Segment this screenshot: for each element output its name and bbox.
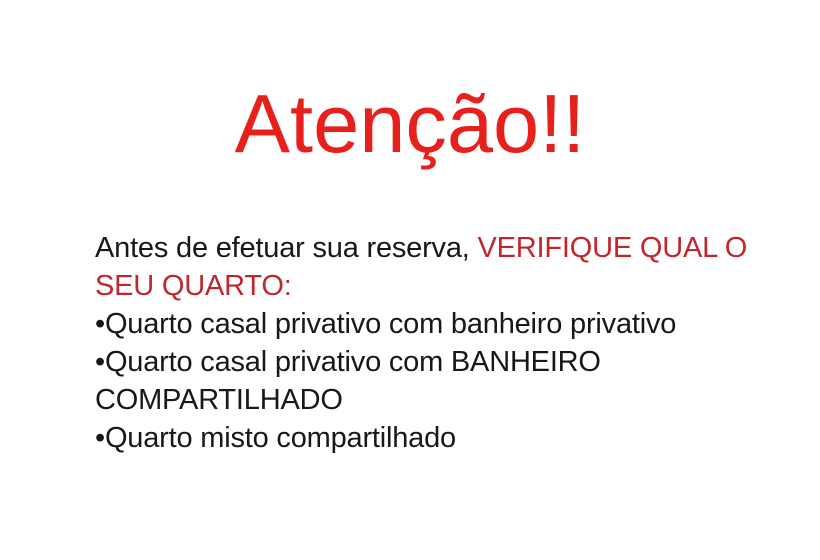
page-title: Atenção!! — [0, 82, 820, 165]
notice-body: Antes de efetuar sua reserva, VERIFIQUE … — [95, 229, 765, 457]
intro-black-text: Antes de efetuar sua reserva, — [95, 232, 478, 264]
bullet-icon: • — [95, 422, 105, 454]
list-item-label: Quarto misto compartilhado — [105, 422, 456, 454]
bullet-icon: • — [95, 308, 105, 340]
intro-line-2: SEU QUARTO: — [95, 267, 765, 305]
notice-slide: Atenção!! Antes de efetuar sua reserva, … — [0, 0, 820, 560]
intro-red-continuation: SEU QUARTO: — [95, 270, 292, 302]
list-item: •Quarto casal privativo com BANHEIRO — [95, 343, 765, 381]
list-item-label: Quarto casal privativo com BANHEIRO — [105, 346, 601, 378]
list-item: •Quarto misto compartilhado — [95, 419, 765, 457]
intro-red-text: VERIFIQUE QUAL O — [478, 232, 748, 264]
intro-line-1: Antes de efetuar sua reserva, VERIFIQUE … — [95, 229, 765, 267]
bullet-icon: • — [95, 346, 105, 378]
list-item-label: Quarto casal privativo com banheiro priv… — [105, 308, 676, 340]
list-item-label-continued: COMPARTILHADO — [95, 384, 343, 416]
list-item: •Quarto casal privativo com banheiro pri… — [95, 305, 765, 343]
list-item-wrap: COMPARTILHADO — [95, 381, 765, 419]
